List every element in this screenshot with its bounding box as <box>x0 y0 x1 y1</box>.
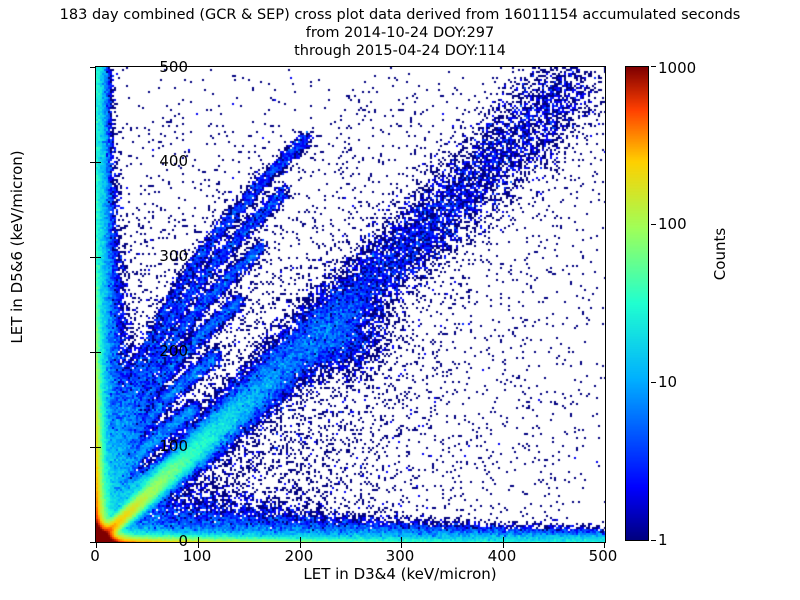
x-axis-label: LET in D3&4 (keV/micron) <box>0 565 800 583</box>
y-tick-inner-300 <box>96 257 101 258</box>
x-tick-inner-400 <box>503 537 504 542</box>
title-line-2: from 2014-10-24 DOY:297 <box>0 24 800 42</box>
y-ticklabel-100: 100 <box>159 437 188 455</box>
x-tick-inner-100 <box>198 537 199 542</box>
y-ticklabel-400: 400 <box>159 152 188 170</box>
let-cross-plot-heatmap <box>96 67 605 542</box>
y-tick-inner-400 <box>96 162 101 163</box>
x-tick-inner-300 <box>401 537 402 542</box>
y-ticklabel-500: 500 <box>159 58 188 76</box>
x-ticklabel-100: 100 <box>183 547 212 565</box>
title-line-3: through 2015-04-24 DOY:114 <box>0 42 800 60</box>
colorbar-label-1: 1 <box>658 531 668 549</box>
colorbar-label-100: 100 <box>658 215 687 233</box>
x-ticklabel-400: 400 <box>488 547 517 565</box>
x-ticklabel-0: 0 <box>90 547 100 565</box>
colorbar-tick-100 <box>651 224 656 225</box>
colorbar-title: Counts <box>711 174 729 334</box>
y-tick-500 <box>90 67 96 68</box>
colorbar[interactable]: 1 10 100 1000 <box>625 66 649 541</box>
colorbar-tick-1 <box>651 540 656 541</box>
x-ticklabel-200: 200 <box>285 547 314 565</box>
x-ticklabel-300: 300 <box>386 547 415 565</box>
y-tick-inner-200 <box>96 352 101 353</box>
figure-canvas: 183 day combined (GCR & SEP) cross plot … <box>0 0 800 600</box>
colorbar-tick-1000 <box>651 66 656 67</box>
x-ticklabel-500: 500 <box>589 547 618 565</box>
title-line-1: 183 day combined (GCR & SEP) cross plot … <box>0 6 800 24</box>
y-tick-inner-100 <box>96 447 101 448</box>
y-ticklabel-200: 200 <box>159 342 188 360</box>
x-tick-inner-200 <box>300 537 301 542</box>
y-ticklabel-300: 300 <box>159 247 188 265</box>
y-axis-label: LET in D5&6 (keV/micron) <box>8 97 26 397</box>
colorbar-gradient <box>625 66 649 541</box>
plot-area[interactable] <box>95 66 606 543</box>
colorbar-label-10: 10 <box>658 373 677 391</box>
figure-title: 183 day combined (GCR & SEP) cross plot … <box>0 6 800 60</box>
colorbar-tick-10 <box>651 382 656 383</box>
colorbar-label-1000: 1000 <box>658 59 696 77</box>
